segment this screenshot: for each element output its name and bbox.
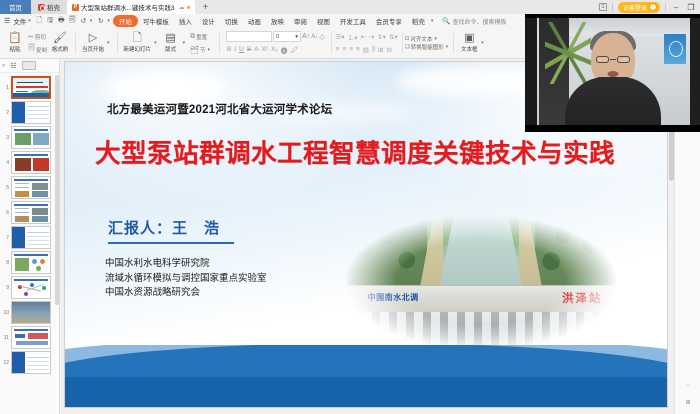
ribbon-tab-design[interactable]: 设计 [197, 16, 220, 26]
textbox-label: 文本框 [461, 45, 478, 53]
zoom-in-icon[interactable]: ⊞ [675, 394, 700, 410]
ribbon-tab-member[interactable]: 会员专享 [371, 16, 407, 26]
thumbnail-preview [11, 251, 51, 274]
wps-presentation-window: 首页 稻壳 P 大型泵站群调水...键技术与实践3 ☁ + 1 访客登录 – ❐… [0, 0, 700, 414]
justify-icon[interactable]: ≡ [356, 46, 360, 53]
align-right-icon[interactable]: ≡ [349, 46, 353, 53]
torso-jacket [565, 77, 661, 125]
tab-document[interactable]: P 大型泵站群调水...键技术与实践3 ☁ [67, 0, 195, 14]
thumbnail-item-10[interactable]: 10 [2, 301, 55, 324]
glasses-bridge [610, 59, 616, 60]
thumbnail-item-9[interactable]: 9 [2, 276, 55, 299]
textbox-button[interactable]: ▣ 文本框 [458, 33, 480, 53]
cut-icon: ✂ [28, 33, 34, 41]
decrease-indent-icon[interactable]: ⇤ [360, 33, 365, 41]
slide-view-icon[interactable] [22, 61, 36, 70]
align-text-label: 对齐文本 [410, 35, 432, 43]
photo-caption-red: 洪泽站 [562, 290, 603, 306]
chevron-down-icon[interactable]: ▾ [106, 40, 113, 46]
text-effect-icon[interactable]: 🅐 [281, 45, 288, 55]
start-from-current-button[interactable]: ▷ 当页开始 [80, 33, 106, 53]
reset-label: 重置 [196, 33, 207, 41]
paragraph-row-2: ≡ ≡ ≡ ≡ ▤ ⫼ ⊞ ⊟ [334, 43, 400, 56]
align-text-icon: ⊡ [405, 36, 410, 42]
search-placeholder: 查找命令、搜索模板 [452, 17, 506, 26]
unsaved-dot-icon [187, 6, 190, 9]
textbox-group: ▣ 文本框 ▾ [456, 28, 489, 59]
print-icon[interactable]: 🖶 [56, 16, 67, 27]
slide-title[interactable]: 大型泵站群调水工程智慧调度关键技术与实践 [95, 133, 615, 170]
thumbnail-preview [11, 301, 51, 324]
layout-icon: ▤ [165, 33, 175, 44]
cut-label: 剪切 [35, 33, 46, 41]
font-size-input[interactable]: 0 ▾ [273, 31, 301, 42]
format-painter-icon: 🖌 [53, 33, 67, 44]
superscript-button[interactable]: X² [262, 46, 269, 53]
thumbnail-preview [11, 76, 51, 99]
thumbnail-number: 6 [2, 210, 9, 216]
ribbon-tab-transition[interactable]: 切换 [220, 16, 243, 26]
thumbnail-preview [11, 176, 51, 199]
align-center-icon[interactable]: ≡ [342, 46, 346, 53]
document-tab-bar: 首页 稻壳 P 大型泵站群调水...键技术与实践3 ☁ + [0, 0, 700, 14]
section-button[interactable]: 🗂 节 ▾ [188, 43, 215, 56]
save-icon[interactable]: 🖫 [45, 16, 56, 27]
highlight-icon[interactable]: 🖍 [290, 46, 298, 54]
copy-label: 复制 [36, 46, 47, 54]
font-size-value: 0 [276, 34, 279, 40]
shrink-font-icon[interactable]: A↓ [311, 34, 318, 40]
align-text-button[interactable]: ⊡ 对齐文本 ▾ [405, 35, 451, 43]
cloud-sync-icon: ☁ [179, 4, 185, 11]
glasses-left-lens [596, 56, 609, 63]
menu-icon[interactable]: ☰ [0, 17, 12, 25]
window-controls: 1 访客登录 – ❐ [599, 0, 700, 14]
guest-login-button[interactable]: 访客登录 [618, 2, 660, 13]
video-left-edge [525, 18, 537, 125]
tab-daoke-label: 稻壳 [47, 2, 60, 12]
ribbon-tab-slideshow[interactable]: 放映 [266, 16, 289, 26]
paragraph-more-icon[interactable]: ⊟ [386, 46, 391, 54]
thumbnail-number: 1 [2, 85, 9, 91]
section-icon: 🗂 [190, 46, 199, 54]
thumbnail-preview [11, 126, 51, 149]
clear-format-icon[interactable]: ◇ [319, 33, 324, 41]
paragraph-row-1: ☰▾ ⒈▾ ⇤ ⇥ ⇕▾ ⇅▾ [334, 30, 400, 43]
thumbnail-preview [11, 101, 51, 124]
cut-button[interactable]: ✂ 剪切 [26, 30, 49, 43]
chevron-down-icon: ▾ [445, 44, 452, 50]
new-tab-button[interactable]: + [195, 0, 217, 14]
textbox-icon: ▣ [464, 33, 474, 44]
thumbnail-number: 5 [2, 185, 9, 191]
text-color-button[interactable]: A [254, 46, 258, 53]
collapse-panel-button[interactable]: » [2, 63, 5, 69]
affiliation-line-1: 中国水利水电科学研究院 [105, 257, 267, 272]
clipboard-group: 📋 粘贴 ✂ 剪切 🗐 复制 🖌 格式刷 [2, 28, 73, 59]
undo-icon[interactable]: ↺ [78, 16, 89, 27]
thumbnail-number: 10 [2, 310, 9, 316]
chevron-down-icon[interactable]: ▾ [430, 18, 437, 24]
new-icon[interactable]: 🗋 [34, 16, 45, 27]
thumbnail-preview [11, 351, 51, 374]
smartart-icon: ❏ [405, 44, 410, 50]
restore-button[interactable]: ❐ [686, 3, 696, 12]
bullet-list-icon[interactable]: ☰▾ [336, 33, 345, 41]
speaker-person [565, 41, 661, 125]
text-direction-icon[interactable]: ⇅▾ [389, 33, 398, 41]
start-here-label: 当页开始 [82, 45, 104, 53]
thumbnail-item-1[interactable]: 1 [2, 76, 55, 99]
affiliation-block[interactable]: 中国水利水电科学研究院 流域水循环模拟与调控国家重点实验室 中国水资源战略研究会 [105, 257, 267, 301]
present-group: ▷ 当页开始 ▾ [78, 28, 115, 59]
format-painter-button[interactable]: 🖌 格式刷 [49, 33, 71, 53]
thumbnail-preview [11, 226, 51, 249]
thumbnail-panel-header: » ☷ [0, 59, 59, 73]
thumbnail-list[interactable]: 1 2 [0, 74, 55, 414]
font-style-row: B I U S A X² X₂ 🅐 🖍 [224, 43, 327, 56]
divider [402, 33, 403, 53]
divider [453, 33, 454, 53]
presenter-line[interactable]: 汇报人：王 浩 [108, 217, 220, 238]
thumbnail-preview [11, 276, 51, 299]
thumbnail-number: 7 [2, 235, 9, 241]
canal-water [432, 215, 529, 293]
thumbnail-item-2[interactable]: 2 [2, 101, 55, 124]
format-painter-label: 格式刷 [52, 45, 69, 53]
copy-icon: 🗐 [28, 44, 35, 55]
grow-font-icon[interactable]: A↑ [302, 33, 310, 40]
print-preview-icon[interactable]: 🗐 [67, 16, 78, 27]
ribbon-tab-start[interactable]: 开始 [113, 15, 138, 27]
line-spacing-icon[interactable]: ⇕▾ [377, 33, 386, 41]
thumbnail-item-7[interactable]: 7 [2, 226, 55, 249]
bold-button[interactable]: B [227, 46, 231, 53]
thumbnail-item-11[interactable]: 11 [2, 326, 55, 349]
section-stack: ⧉ 重置 🗂 节 ▾ [188, 28, 215, 59]
chevron-down-icon: ▾ [295, 34, 298, 40]
font-group: 0 ▾ A↑ A↓ ◇ B I U S A X² X₂ 🅐 🖍 [222, 28, 329, 59]
affiliation-line-2: 流域水循环模拟与调控国家重点实验室 [105, 272, 267, 287]
divider [665, 3, 666, 11]
thumbnail-preview [11, 151, 51, 174]
pumping-station-photo[interactable]: 中国南水北调 洪泽站 [346, 215, 616, 350]
file-menu-button[interactable]: 文件 [12, 16, 27, 26]
search-icon: 🔍 [442, 17, 450, 25]
thumbnail-item-12[interactable]: 12 [2, 351, 55, 374]
tab-daoke[interactable]: 稻壳 [31, 0, 67, 14]
thumbnail-number: 4 [2, 160, 9, 166]
text-tools-group: ⊡ 对齐文本 ▾ ❏ 转换智能图形 ▾ [405, 28, 451, 59]
thumbnail-number: 8 [2, 260, 9, 266]
customize-icon[interactable]: ▾ [106, 18, 113, 24]
tab-home-label: 首页 [9, 2, 22, 12]
divider [117, 33, 118, 53]
guest-login-label: 访客登录 [623, 3, 647, 12]
slide-bottom-band [65, 345, 667, 407]
tab-document-label: 大型泵站群调水...键技术与实践3 [81, 2, 175, 12]
ribbon-tab-review[interactable]: 审阅 [289, 16, 312, 26]
list-level-icon[interactable]: ⊞ [378, 46, 383, 54]
paste-icon: 📋 [8, 33, 22, 44]
video-feed [525, 18, 700, 125]
trees-left [346, 220, 427, 293]
ribbon-tab-animation[interactable]: 动画 [243, 16, 266, 26]
new-slide-label: 新建幻灯片 [124, 45, 152, 53]
convert-smartart-label: 转换智能图形 [411, 43, 444, 51]
glasses-right-lens [617, 56, 630, 63]
align-left-icon[interactable]: ≡ [336, 46, 340, 53]
chevron-down-icon[interactable]: ▾ [207, 47, 214, 53]
thumbnail-item-3[interactable]: 3 [2, 126, 55, 149]
trees-right [535, 219, 616, 292]
ppt-file-icon: P [72, 4, 79, 11]
paste-button[interactable]: 📋 粘贴 [4, 33, 26, 53]
chevron-down-icon: ▾ [433, 36, 440, 42]
reset-button[interactable]: ⧉ 重置 [188, 30, 215, 43]
section-label: 节 [200, 46, 206, 54]
new-slide-icon: 🗋 [133, 33, 142, 44]
command-search[interactable]: 🔍 查找命令、搜索模板 [442, 17, 506, 26]
copy-button[interactable]: 🗐 复制 [26, 43, 49, 56]
convert-smartart-button[interactable]: ❏ 转换智能图形 ▾ [405, 43, 451, 51]
video-conference-window[interactable] [525, 14, 700, 132]
affiliation-line-3: 中国水资源战略研究会 [105, 286, 267, 301]
thumbnail-number: 3 [2, 135, 9, 141]
thumbnail-preview [11, 326, 51, 349]
right-panel-bottom: − ⊞ [675, 378, 700, 410]
layout-button[interactable]: ▤ 版式 [160, 33, 182, 53]
cut-copy-stack: ✂ 剪切 🗐 复制 [26, 28, 49, 59]
font-family-input[interactable] [226, 31, 272, 42]
ribbon-tab-devtools[interactable]: 开发工具 [335, 16, 371, 26]
divider [219, 33, 220, 53]
video-letterbox-bottom [525, 125, 700, 132]
ribbon-tab-view[interactable]: 视图 [312, 16, 335, 26]
underline-button[interactable]: U [239, 46, 244, 53]
chevron-down-icon[interactable]: ▾ [480, 40, 487, 46]
font-stack: 0 ▾ A↑ A↓ ◇ B I U S A X² X₂ 🅐 🖍 [224, 28, 327, 59]
slides-group: 🗋 新建幻灯片 ▾ ▤ 版式 ▾ ⧉ 重置 🗂 节 ▾ [120, 28, 217, 59]
distribute-icon[interactable]: ▤ [363, 46, 369, 54]
numbered-list-icon[interactable]: ⒈▾ [348, 32, 358, 42]
divider [75, 33, 76, 53]
ribbon-tab-daoke[interactable]: 稻壳 [407, 16, 430, 26]
font-row: 0 ▾ A↑ A↓ ◇ [224, 30, 327, 43]
daoke-icon [38, 4, 45, 11]
thumbnail-number: 9 [2, 285, 9, 291]
thumbnail-item-8[interactable]: 8 [2, 251, 55, 274]
ribbon-tab-template[interactable]: 可牛模板 [138, 16, 174, 26]
wall-poster [664, 34, 686, 64]
increase-indent-icon[interactable]: ⇥ [369, 33, 374, 41]
minimize-button[interactable]: – [671, 3, 681, 12]
thumbnail-number: 12 [2, 360, 9, 366]
strikethrough-button[interactable]: S [247, 46, 251, 53]
thumbnail-number: 2 [2, 110, 9, 116]
slide-thumbnail-panel[interactable]: » ☷ 1 2 [0, 59, 60, 414]
avatar-icon [649, 3, 657, 11]
layout-label: 版式 [165, 45, 176, 53]
thumbnail-item-5[interactable]: 5 [2, 176, 55, 199]
ribbon-tab-insert[interactable]: 插入 [174, 16, 197, 26]
layout-switch-icon[interactable]: 1 [599, 3, 607, 11]
presenter-underline [108, 242, 234, 244]
play-circle-icon: ▷ [89, 33, 97, 44]
tab-home[interactable]: 首页 [0, 0, 31, 14]
italic-button[interactable]: I [234, 46, 236, 53]
slide-subtitle[interactable]: 北方最美运河暨2021河北省大运河学术论坛 [107, 101, 332, 117]
redo-icon[interactable]: ↻ [95, 16, 106, 27]
paragraph-group: ☰▾ ⒈▾ ⇤ ⇥ ⇕▾ ⇅▾ ≡ ≡ ≡ ≡ ▤ ⫼ ⊞ ⊟ [334, 28, 400, 59]
zoom-out-icon[interactable]: − [675, 378, 700, 394]
thumbnail-preview [11, 201, 51, 224]
video-right-edge [690, 18, 700, 125]
divider [612, 3, 613, 11]
thumbnail-scrollbar[interactable] [55, 75, 59, 305]
reset-icon: ⧉ [190, 33, 195, 41]
paste-label: 粘贴 [9, 45, 20, 53]
thumbnail-item-4[interactable]: 4 [2, 151, 55, 174]
photo-caption-blue: 中国南水北调 [368, 292, 419, 303]
new-slide-button[interactable]: 🗋 新建幻灯片 [122, 33, 154, 53]
thumbnail-number: 11 [2, 335, 9, 341]
subscript-button[interactable]: X₂ [271, 46, 278, 53]
outline-view-icon[interactable]: ☷ [10, 62, 16, 70]
thumbnail-item-6[interactable]: 6 [2, 201, 55, 224]
divider [331, 33, 332, 53]
columns-icon[interactable]: ⫼ [372, 46, 375, 54]
